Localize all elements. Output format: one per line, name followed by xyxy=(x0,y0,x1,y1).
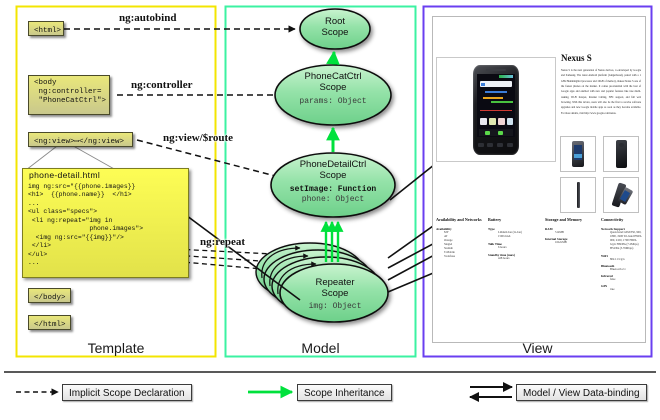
angular-scope-diagram: <html> <body ng:controller= "PhoneCatCtr… xyxy=(0,0,660,420)
phone-detail-callout[interactable]: phone-detail.html img ng:src="{{phone.im… xyxy=(22,168,189,278)
thumbnail-1[interactable] xyxy=(560,136,596,172)
view-rendered-page: Nexus S Nexus S is the next generation o… xyxy=(432,16,646,343)
thumbnail-2[interactable] xyxy=(603,136,639,172)
thumbnail-4[interactable] xyxy=(603,177,639,213)
ngview-tag-box[interactable]: <ng:view>▭</ng:view> xyxy=(28,132,133,147)
body-tag-box[interactable]: <body ng:controller= "PhoneCatCtrl"> xyxy=(28,75,110,115)
panel-label-template: Template xyxy=(16,340,216,356)
spec-value: 1500 mAh xyxy=(498,235,540,239)
phonedetailctrl-scope-ellipse xyxy=(271,153,395,217)
spec-heading-storage: Storage and Memory xyxy=(545,217,597,222)
edge-ng-repeat: ng:repeat xyxy=(200,236,245,248)
root-scope-ellipse xyxy=(300,9,370,49)
legend-implicit-scope-declaration: Implicit Scope Declaration xyxy=(62,384,192,401)
spec-value: 802.11 b/g/n xyxy=(610,258,645,262)
html-close-box[interactable]: </html> xyxy=(28,315,71,330)
spec-value: 512MB xyxy=(555,231,597,235)
html-tag-box[interactable]: <html> xyxy=(28,21,64,36)
body-close-box[interactable]: </body> xyxy=(28,288,71,303)
phone-illustration xyxy=(473,65,519,155)
spec-col-battery: Battery Type Lithium Ion (Li-Ion) 1500 m… xyxy=(488,217,540,261)
panel-label-view: View xyxy=(423,340,652,356)
inheritance-arrow-phonecat-to-root xyxy=(333,52,334,64)
spec-heading-battery: Battery xyxy=(488,217,540,222)
spec-value: 6 hours xyxy=(498,246,540,250)
legend: Implicit Scope Declaration Scope Inherit… xyxy=(0,378,660,420)
spec-col-availability: Availability and Networks Availability M… xyxy=(436,217,482,259)
phonecatctrl-scope-ellipse xyxy=(275,65,391,125)
phone-screen xyxy=(477,74,515,137)
spec-value: Vodafone xyxy=(444,255,482,259)
phone-detail-callout-code: img ng:src="{{phone.images}} <h1> {{phon… xyxy=(28,183,188,268)
phone-detail-callout-title: phone-detail.html xyxy=(29,170,188,180)
product-description: Nexus S is the next generation of Nexus … xyxy=(561,68,641,116)
edge-ng-controller: ng:controller xyxy=(131,79,193,91)
thumbnail-3[interactable] xyxy=(560,177,596,213)
main-phone-image-frame[interactable] xyxy=(436,57,556,162)
spec-value: false xyxy=(610,278,645,282)
spec-heading-availability: Availability and Networks xyxy=(436,217,482,222)
spec-col-connectivity: Connectivity Network Support Quad-band G… xyxy=(601,217,645,292)
repeater-scope-ellipse xyxy=(280,264,388,322)
spec-value: Quad-band GSM 850, 900, 1800, 1900 Tri-b… xyxy=(610,231,643,251)
spec-value: Bluetooth 2.1 xyxy=(610,268,645,272)
spec-value: 428 hours xyxy=(498,257,540,261)
spec-value: 16Gb/MB xyxy=(555,241,597,245)
spec-heading-connectivity: Connectivity xyxy=(601,217,645,222)
edge-ng-autobind: ng:autobind xyxy=(119,12,176,24)
spec-col-storage: Storage and Memory RAM 512MB Internal St… xyxy=(545,217,597,245)
legend-scope-inheritance: Scope Inheritance xyxy=(297,384,392,401)
edge-ng-view-route: ng:view/$route xyxy=(163,132,233,144)
product-title: Nexus S xyxy=(561,53,592,63)
panel-label-model: Model xyxy=(225,340,416,356)
spec-value: true xyxy=(610,288,645,292)
legend-data-binding: Model / View Data-binding xyxy=(516,384,647,401)
